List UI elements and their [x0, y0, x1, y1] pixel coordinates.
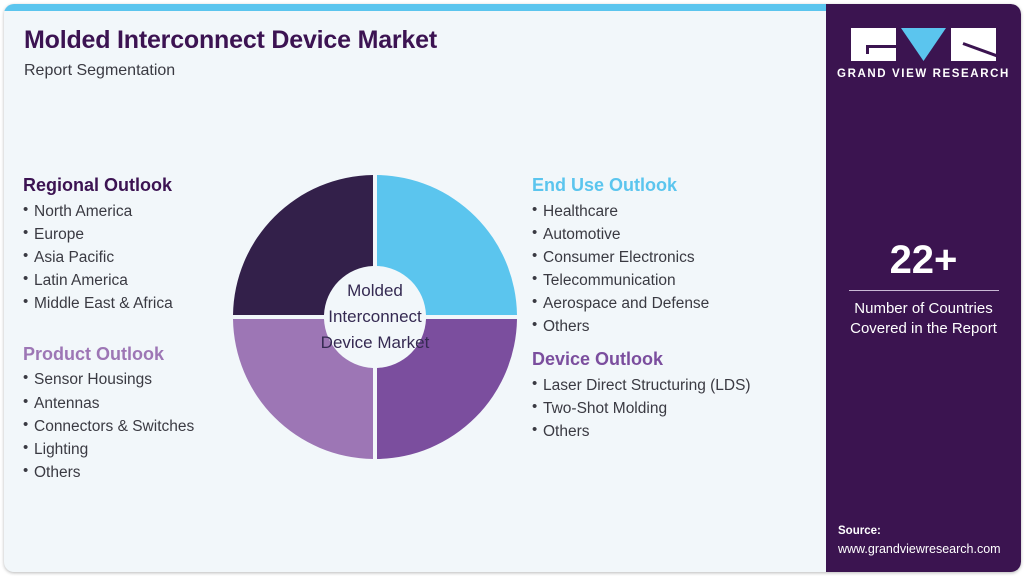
segment-title-device-outlook: Device Outlook [532, 348, 822, 371]
stat-block: 22+ Number of Countries Covered in the R… [826, 240, 1021, 339]
top-accent-bar [4, 4, 826, 11]
list-item: Antennas [23, 392, 238, 415]
segment-list-regional-outlook: North America Europe Asia Pacific Latin … [23, 200, 238, 315]
list-item: Others [532, 420, 822, 443]
page-subtitle: Report Segmentation [24, 61, 724, 80]
stat-divider [849, 290, 999, 291]
list-item: Others [532, 315, 822, 338]
list-item: Lighting [23, 438, 238, 461]
list-item: Others [23, 461, 238, 484]
list-item: Latin America [23, 269, 238, 292]
segment-list-device-outlook: Laser Direct Structuring (LDS) Two-Shot … [532, 374, 822, 443]
donut-chart-svg [233, 175, 517, 459]
list-item: Consumer Electronics [532, 246, 822, 269]
stat-label-line-1: Number of Countries [826, 299, 1021, 319]
segment-list-product-outlook: Sensor Housings Antennas Connectors & Sw… [23, 368, 238, 483]
logo-letter-v-icon [901, 28, 946, 61]
list-item: Two-Shot Molding [532, 397, 822, 420]
list-item: Asia Pacific [23, 246, 238, 269]
list-item: Automotive [532, 223, 822, 246]
list-item: Sensor Housings [23, 368, 238, 391]
list-item: Laser Direct Structuring (LDS) [532, 374, 822, 397]
list-item: Telecommunication [532, 269, 822, 292]
segment-title-end-use-outlook: End Use Outlook [532, 174, 822, 197]
list-item: Healthcare [532, 200, 822, 223]
stat-label-line-2: Covered in the Report [826, 319, 1021, 339]
segment-group-end-use-outlook: End Use Outlook Healthcare Automotive Co… [532, 174, 822, 338]
page-title: Molded Interconnect Device Market [24, 26, 724, 55]
brand-panel: GRAND VIEW RESEARCH 22+ Number of Countr… [826, 4, 1021, 572]
donut-segment-regional-outlook [233, 175, 373, 315]
gvr-logo-marks [826, 28, 1021, 61]
segment-group-regional-outlook: Regional Outlook North America Europe As… [23, 174, 238, 315]
segment-title-regional-outlook: Regional Outlook [23, 174, 238, 197]
source-title: Source: [838, 523, 1018, 540]
logo-wordmark: GRAND VIEW RESEARCH [826, 68, 1021, 80]
segment-list-end-use-outlook: Healthcare Automotive Consumer Electroni… [532, 200, 822, 339]
segment-title-product-outlook: Product Outlook [23, 343, 238, 366]
source-url[interactable]: www.grandviewresearch.com [838, 540, 1018, 558]
list-item: North America [23, 200, 238, 223]
report-card: Molded Interconnect Device Market Report… [4, 4, 1021, 572]
left-column: Regional Outlook North America Europe As… [23, 174, 238, 484]
donut-segment-product-outlook [233, 319, 373, 459]
logo-letter-r-icon [951, 28, 996, 61]
donut-chart: Molded Interconnect Device Market [233, 175, 517, 459]
stat-number: 22+ [826, 240, 1021, 280]
list-item: Connectors & Switches [23, 415, 238, 438]
logo-letter-g-icon [851, 28, 896, 61]
infographic-canvas: Molded Interconnect Device Market Report… [0, 0, 1025, 576]
right-column: End Use Outlook Healthcare Automotive Co… [532, 174, 822, 443]
list-item: Europe [23, 223, 238, 246]
list-item: Aerospace and Defense [532, 292, 822, 315]
gvr-logo: GRAND VIEW RESEARCH [826, 28, 1021, 80]
segment-group-product-outlook: Product Outlook Sensor Housings Antennas… [23, 343, 238, 484]
source-block: Source: www.grandviewresearch.com [838, 523, 1018, 558]
segment-group-device-outlook: Device Outlook Laser Direct Structuring … [532, 348, 822, 443]
donut-segment-device-outlook [377, 319, 517, 459]
header: Molded Interconnect Device Market Report… [24, 26, 724, 80]
list-item: Middle East & Africa [23, 292, 238, 315]
donut-segment-end-use-outlook [377, 175, 517, 315]
